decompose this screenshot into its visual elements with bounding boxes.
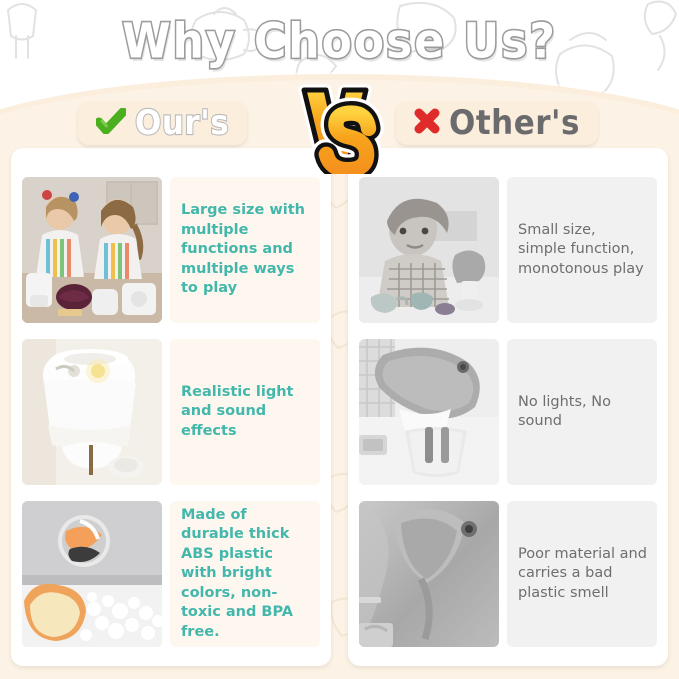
ours-row-0: Large size with multiple functions and m…: [22, 177, 320, 323]
ours-row-2-text-cell: Made of durable thick ABS plastic with b…: [170, 501, 320, 647]
others-row-0-text-cell: Small size, simple function, monotonous …: [507, 177, 657, 323]
ours-row-2-text: Made of durable thick ABS plastic with b…: [181, 506, 311, 642]
ours-row-0-text-cell: Large size with multiple functions and m…: [170, 177, 320, 323]
others-row-0-image: [359, 177, 499, 323]
page-title-wrapper: Why Choose Us?: [0, 16, 679, 67]
ours-row-1-text-cell: Realistic light and sound effects: [170, 339, 320, 485]
others-row-2-text: Poor material and carries a bad plastic …: [518, 545, 648, 603]
ours-badge: Our's: [78, 101, 247, 145]
others-row-2-text-cell: Poor material and carries a bad plastic …: [507, 501, 657, 647]
others-row-0: Small size, simple function, monotonous …: [359, 177, 657, 323]
cross-icon: [414, 108, 440, 139]
others-row-1-text-cell: No lights, No sound: [507, 339, 657, 485]
others-panel: Small size, simple function, monotonous …: [348, 148, 668, 666]
others-row-0-text: Small size, simple function, monotonous …: [518, 221, 648, 279]
check-icon: [96, 108, 126, 139]
other-badge: Other's: [396, 101, 598, 145]
ours-row-2-image: [22, 501, 162, 647]
ours-row-1-text: Realistic light and sound effects: [181, 383, 311, 441]
ours-badge-label: Our's: [135, 106, 229, 139]
ours-row-1: Realistic light and sound effects: [22, 339, 320, 485]
other-badge-label: Other's: [449, 106, 580, 139]
others-row-1-text: No lights, No sound: [518, 393, 648, 432]
ours-row-1-image: [22, 339, 162, 485]
comparison-panels: Large size with multiple functions and m…: [0, 148, 679, 668]
others-row-1: No lights, No sound: [359, 339, 657, 485]
ours-row-0-text: Large size with multiple functions and m…: [181, 201, 311, 298]
infographic-page: Why Choose Us? Our's Other's: [0, 0, 679, 679]
ours-row-2: Made of durable thick ABS plastic with b…: [22, 501, 320, 647]
ours-panel: Large size with multiple functions and m…: [11, 148, 331, 666]
page-title: Why Choose Us?: [122, 13, 557, 69]
others-row-1-image: [359, 339, 499, 485]
ours-row-0-image: [22, 177, 162, 323]
vs-badge: [292, 78, 388, 174]
others-row-2-image: [359, 501, 499, 647]
others-row-2: Poor material and carries a bad plastic …: [359, 501, 657, 647]
